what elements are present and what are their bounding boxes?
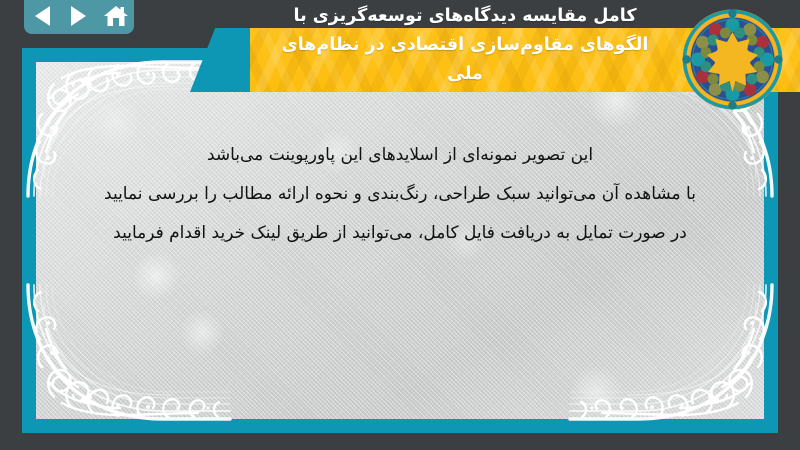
arrow-right-icon [71, 6, 86, 26]
home-icon [103, 4, 129, 28]
next-slide-button[interactable] [65, 3, 93, 29]
body-text-line: با مشاهده آن می‌توانید سبک طراحی، رنگ‌بن… [60, 175, 740, 214]
slide-title-line: کامل مقایسه دیدگاه‌های توسعه‌گریزی با [250, 2, 680, 31]
home-button[interactable] [102, 3, 130, 29]
presentation-slide: کامل مقایسه دیدگاه‌های توسعه‌گریزی با ال… [0, 0, 800, 450]
previous-slide-button[interactable] [28, 3, 56, 29]
persian-medallion-ornament-icon [681, 8, 784, 111]
body-text-line: در صورت تمایل به دریافت فایل کامل، می‌تو… [60, 214, 740, 253]
body-text-line: این تصویر نمونه‌ای از اسلایدهای این پاور… [60, 136, 740, 175]
arrow-left-icon [35, 6, 50, 26]
banner-connector-edge [233, 28, 241, 92]
slide-navigation-bar [24, 0, 134, 34]
slide-body-text: این تصویر نمونه‌ای از اسلایدهای این پاور… [60, 136, 740, 253]
